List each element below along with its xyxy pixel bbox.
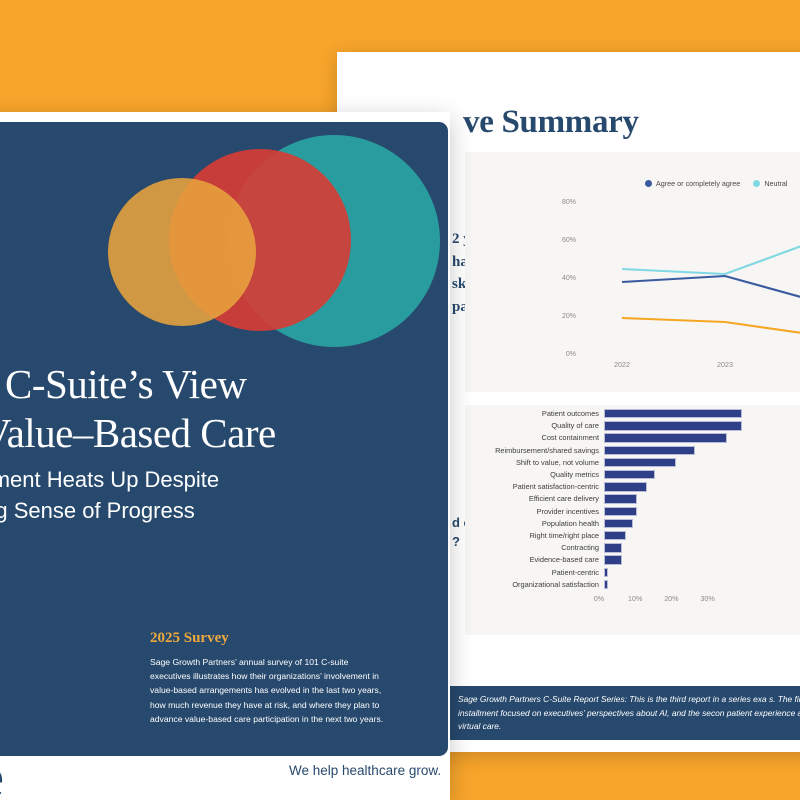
bar-rect (604, 543, 622, 552)
cover-subtitle: Investment Heats Up Despite Cooling Sens… (0, 464, 363, 526)
bar-rect (604, 482, 647, 491)
bar-row: Quality metrics (465, 470, 655, 479)
sage-logo-mark (0, 748, 74, 800)
bar-row: Patient-centric (465, 568, 608, 577)
bar-label: Contracting (465, 543, 604, 552)
bar-rect (604, 555, 622, 564)
bar-label: Organizational satisfaction (465, 580, 604, 589)
line-series-agree (622, 276, 800, 307)
sage-logo-text: ge (0, 746, 3, 800)
bar-row: Contracting (465, 543, 622, 552)
bar-label: Quality metrics (465, 470, 604, 479)
cover-title-line2: on Value–Based Care (0, 409, 403, 458)
bar-label: Population health (465, 519, 604, 528)
bar-rect (604, 507, 637, 516)
bar-rect (604, 421, 742, 430)
cover-subtitle-line1: Investment Heats Up Despite (0, 464, 363, 495)
bar-row: Quality of care (465, 421, 742, 430)
bar-label: Provider incentives (465, 507, 604, 516)
bar-row: Shift to value, not volume (465, 458, 676, 467)
bar-row: Patient satisfaction-centric (465, 482, 647, 491)
venn-circle-orange (108, 178, 256, 326)
bar-xtick: 10% (620, 594, 650, 603)
bar-rect (604, 531, 626, 540)
bar-chart-panel: Patient outcomesQuality of careCost cont… (465, 405, 800, 635)
bar-row: Efficient care delivery (465, 494, 637, 503)
bar-row: Right time/right place (465, 531, 626, 540)
line-series-disagree (622, 318, 800, 338)
bar-label: Efficient care delivery (465, 494, 604, 503)
line-series-neutral (622, 233, 800, 274)
bar-row: Evidence-based care (465, 555, 622, 564)
report-cover: The C-Suite’s View on Value–Based Care I… (0, 122, 448, 756)
page-title: ve Summary (463, 104, 639, 141)
bar-rect (604, 568, 608, 577)
bar-rect (604, 409, 742, 418)
bar-xtick: 30% (693, 594, 723, 603)
bar-label: Right time/right place (465, 531, 604, 540)
bar-label: Cost containment (465, 433, 604, 442)
line-chart-svg (465, 152, 800, 392)
cover-title: The C-Suite’s View on Value–Based Care (0, 360, 403, 458)
bar-row: Cost containment (465, 433, 727, 442)
screenshot-stage: ve Summary 2 years, has made sk or payme… (0, 0, 800, 800)
bar-rect (604, 580, 608, 589)
sage-logo: ge (0, 752, 74, 800)
bar-label: Reimbursement/shared savings (465, 446, 604, 455)
bar-xtick: 0% (584, 594, 614, 603)
bar-label: Evidence-based care (465, 555, 604, 564)
tagline: We help healthcare grow. (289, 763, 441, 778)
bar-row: Reimbursement/shared savings (465, 446, 695, 455)
bar-label: Quality of care (465, 421, 604, 430)
bar-label: Patient satisfaction-centric (465, 482, 604, 491)
report-footnote: Sage Growth Partners C-Suite Report Seri… (448, 686, 800, 740)
bar-rect (604, 458, 676, 467)
bar-row: Provider incentives (465, 507, 637, 516)
bar-row: Population health (465, 519, 633, 528)
cover-subtitle-line2: Cooling Sense of Progress (0, 495, 363, 526)
line-chart-panel: Agree or completely agree Neutral Disa 8… (465, 152, 800, 392)
bar-rect (604, 519, 633, 528)
bar-rect (604, 446, 695, 455)
bar-xtick: 20% (656, 594, 686, 603)
bar-label: Patient outcomes (465, 409, 604, 418)
cover-title-line1: The C-Suite’s View (0, 360, 403, 409)
bar-row: Organizational satisfaction (465, 580, 608, 589)
bar-rect (604, 494, 637, 503)
survey-year-label: 2025 Survey (150, 630, 229, 647)
bar-label: Patient-centric (465, 568, 604, 577)
bar-rect (604, 470, 655, 479)
bar-row: Patient outcomes (465, 409, 742, 418)
bar-label: Shift to value, not volume (465, 458, 604, 467)
bar-rect (604, 433, 727, 442)
survey-description: Sage Growth Partners’ annual survey of 1… (150, 655, 390, 726)
